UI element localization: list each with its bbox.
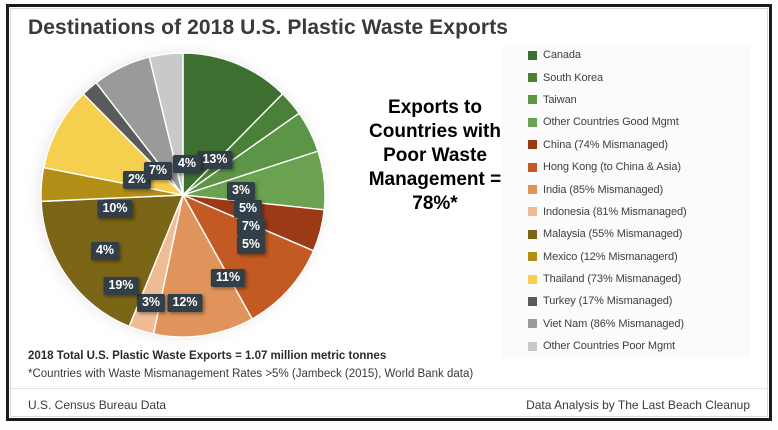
legend-item[interactable]: Mexico (12% Mismanagerd): [502, 246, 750, 268]
legend-item-label: South Korea: [543, 72, 603, 84]
legend-item[interactable]: Turkey (17% Mismanaged): [502, 290, 750, 312]
callout-line-4: Management =: [355, 168, 515, 192]
callout-text: Exports to Countries with Poor Waste Man…: [355, 96, 515, 216]
legend-swatch-icon: [528, 207, 537, 216]
legend-item[interactable]: Other Countries Good Mgmt: [502, 111, 750, 133]
legend-item-label: Turkey (17% Mismanaged): [543, 295, 672, 307]
legend-swatch-icon: [528, 118, 537, 127]
legend-item-label: Other Countries Good Mgmt: [543, 116, 679, 128]
legend-swatch-icon: [528, 163, 537, 172]
legend-item[interactable]: Thailand (73% Mismanaged): [502, 268, 750, 290]
legend-item[interactable]: Hong Kong (to China & Asia): [502, 156, 750, 178]
legend-item-label: India (85% Mismanaged): [543, 184, 663, 196]
legend-swatch-icon: [528, 95, 537, 104]
legend-swatch-icon: [528, 252, 537, 261]
legend-swatch-icon: [528, 297, 537, 306]
pie-slice-label: 11%: [211, 269, 245, 287]
legend-swatch-icon: [528, 230, 537, 239]
legend-item-label: Taiwan: [543, 94, 577, 106]
pie-slice-label: 4%: [91, 242, 119, 260]
pie-slice-label: 3%: [137, 294, 165, 312]
legend-item[interactable]: China (74% Mismanaged): [502, 134, 750, 156]
callout-line-2: Countries with: [355, 120, 515, 144]
legend-item-label: Other Countries Poor Mgmt: [543, 340, 675, 352]
legend-swatch-icon: [528, 73, 537, 82]
legend-swatch-icon: [528, 275, 537, 284]
legend-item-label: China (74% Mismanaged): [543, 139, 668, 151]
legend-item-label: Indonesia (81% Mismanaged): [543, 206, 687, 218]
legend-item-label: Canada: [543, 49, 581, 61]
pie-slice-label: 19%: [103, 277, 138, 295]
legend-item[interactable]: Malaysia (55% Mismanaged): [502, 223, 750, 245]
pie-chart: 13%3%5%7%5%11%12%3%19%4%10%2%7%4%: [32, 46, 332, 346]
legend-item[interactable]: Taiwan: [502, 89, 750, 111]
legend-item[interactable]: Other Countries Poor Mgmt: [502, 335, 750, 357]
legend-item[interactable]: South Korea: [502, 66, 750, 88]
pie-slice-label: 10%: [97, 200, 132, 218]
legend-item-label: Thailand (73% Mismanaged): [543, 273, 681, 285]
note-footnote: *Countries with Waste Mismanagement Rate…: [28, 368, 473, 380]
legend-swatch-icon: [528, 185, 537, 194]
callout-line-3: Poor Waste: [355, 144, 515, 168]
legend-item-label: Viet Nam (86% Mismanaged): [543, 318, 684, 330]
chart-figure: Destinations of 2018 U.S. Plastic Waste …: [0, 0, 778, 430]
legend-swatch-icon: [528, 51, 537, 60]
source-right: Data Analysis by The Last Beach Cleanup: [526, 398, 750, 412]
legend-swatch-icon: [528, 342, 537, 351]
pie-slice-label: 5%: [237, 236, 265, 254]
legend-item-label: Malaysia (55% Mismanaged): [543, 228, 682, 240]
legend-item[interactable]: Viet Nam (86% Mismanaged): [502, 313, 750, 335]
legend-swatch-icon: [528, 319, 537, 328]
note-total-exports: 2018 Total U.S. Plastic Waste Exports = …: [28, 350, 386, 362]
legend-item[interactable]: India (85% Mismanaged): [502, 178, 750, 200]
legend-swatch-icon: [528, 140, 537, 149]
pie-slice-label: 5%: [234, 200, 262, 218]
legend-item-label: Hong Kong (to China & Asia): [543, 161, 681, 173]
legend-item-label: Mexico (12% Mismanagerd): [543, 251, 678, 263]
pie-slice-label: 7%: [237, 218, 265, 236]
chart-title: Destinations of 2018 U.S. Plastic Waste …: [28, 16, 508, 40]
pie-slice-label: 12%: [167, 294, 202, 312]
chart-legend: CanadaSouth KoreaTaiwanOther Countries G…: [502, 44, 750, 358]
pie-slice-label: 13%: [197, 151, 232, 169]
source-left: U.S. Census Bureau Data: [28, 398, 166, 412]
callout-line-1: Exports to: [355, 96, 515, 120]
legend-item[interactable]: Canada: [502, 44, 750, 66]
bottom-divider: [11, 388, 767, 389]
pie-slice-label: 7%: [144, 162, 172, 180]
legend-item[interactable]: Indonesia (81% Mismanaged): [502, 201, 750, 223]
pie-slice-label: 4%: [173, 155, 201, 173]
pie-slice-label: 3%: [227, 182, 255, 200]
callout-line-5: 78%*: [355, 192, 515, 216]
